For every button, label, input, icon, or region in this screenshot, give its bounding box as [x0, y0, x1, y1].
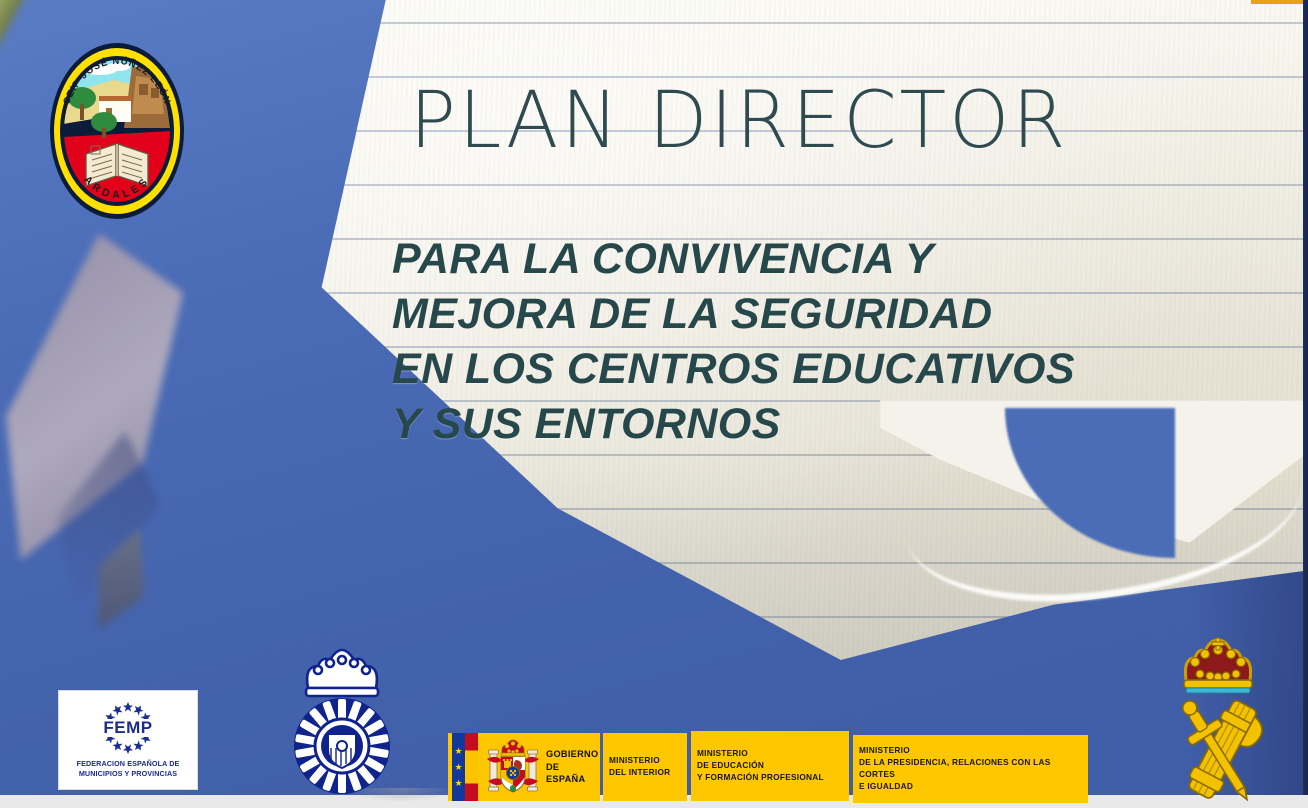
interior-line1: MINISTERIO [609, 755, 670, 767]
spain-coat-of-arms-icon [486, 737, 540, 797]
subtitle-line-2: MEJORA DE LA SEGURIDAD [392, 287, 1075, 342]
femp-acronym: FEMP [82, 702, 174, 754]
subtitle-line-1: PARA LA CONVIVENCIA Y [392, 232, 1075, 287]
page-title: PLAN DIRECTOR [410, 82, 1069, 160]
femp-stars-icon: FEMP [82, 702, 174, 754]
ministerio-presidencia-panel: MINISTERIO DE LA PRESIDENCIA, RELACIONES… [853, 735, 1088, 803]
presidencia-line2: DE LA PRESIDENCIA, RELACIONES CON LAS CO… [859, 757, 1088, 781]
presidencia-line1: MINISTERIO [859, 745, 1088, 757]
flags-strip: ★★★ [452, 733, 478, 801]
femp-caption-line1: FEDERACION ESPAÑOLA DE [77, 759, 180, 769]
educacion-line2: DE EDUCACIÓN [697, 760, 824, 772]
ministerio-interior-text: MINISTERIO DEL INTERIOR [603, 755, 670, 779]
gobierno-label: GOBIERNO DE ESPAÑA [546, 748, 600, 786]
femp-caption-line2: MUNICIPIOS Y PROVINCIAS [77, 769, 180, 779]
poster-headline: PLAN DIRECTOR [403, 82, 1075, 160]
presidencia-line3: E IGUALDAD [859, 781, 1088, 793]
femp-logo: FEMP FEDERACION ESPAÑOLA DE MUNICIPIOS Y… [58, 690, 198, 790]
ministerio-presidencia-text: MINISTERIO DE LA PRESIDENCIA, RELACIONES… [853, 745, 1088, 792]
ministerio-educacion-panel: MINISTERIO DE EDUCACIÓN Y FORMACIÓN PROF… [691, 731, 849, 801]
ministerio-educacion-text: MINISTERIO DE EDUCACIÓN Y FORMACIÓN PROF… [691, 748, 824, 783]
right-edge-border [1303, 0, 1308, 808]
educacion-line3: Y FORMACIÓN PROFESIONAL [697, 772, 824, 784]
school-crest-icon: CEIP JOSÉ NÚÑEZ LEÓN ARDALES [44, 36, 190, 226]
poster-subtitle: PARA LA CONVIVENCIA Y MEJORA DE LA SEGUR… [392, 232, 1075, 452]
subtitle-line-3: EN LOS CENTROS EDUCATIVOS [392, 342, 1075, 397]
policia-nacional-badge-icon [284, 648, 400, 800]
eu-flag-icon: ★★★ [452, 733, 465, 801]
subtitle-line-4: Y SUS ENTORNOS [392, 397, 1075, 452]
interior-line2: DEL INTERIOR [609, 767, 670, 779]
spain-flag-icon [465, 733, 478, 801]
plan-director-poster: PLAN DIRECTOR PARA LA CONVIVENCIA Y MEJO… [0, 0, 1308, 808]
guardia-civil-emblem-icon [1156, 636, 1280, 802]
top-right-gold-sliver [1251, 0, 1303, 4]
ministry-logo-bar: ★★★ [448, 733, 1088, 803]
educacion-line1: MINISTERIO [697, 748, 824, 760]
ministerio-interior-panel: MINISTERIO DEL INTERIOR [603, 733, 687, 801]
femp-caption: FEDERACION ESPAÑOLA DE MUNICIPIOS Y PROV… [77, 759, 180, 778]
gobierno-line2: DE ESPAÑA [546, 761, 600, 786]
gobierno-de-espana-panel: ★★★ [448, 733, 600, 801]
gobierno-line1: GOBIERNO [546, 748, 600, 761]
